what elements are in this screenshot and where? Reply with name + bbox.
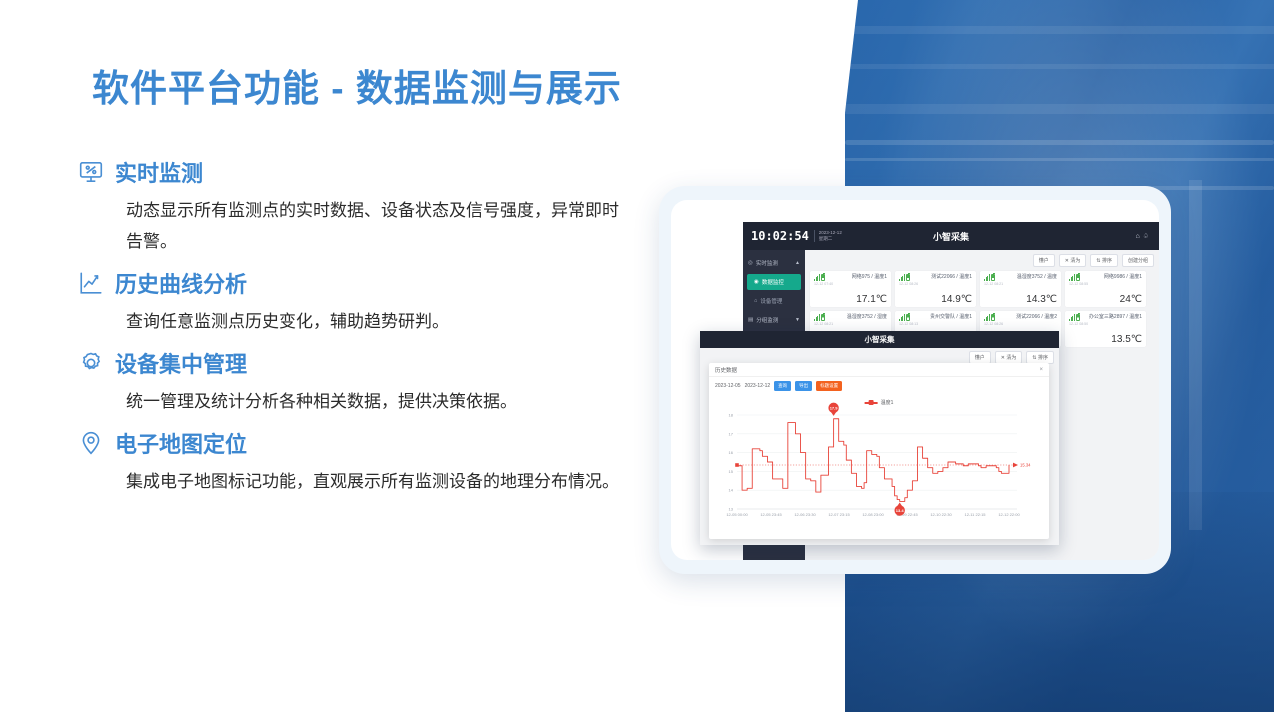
- feature-list: 实时监测 动态显示所有监测点的实时数据、设备状态及信号强度，异常即时告警。 历史…: [78, 155, 638, 506]
- card-status-icons: [1069, 274, 1080, 281]
- card-title: 温湿度3752 / 温度: [1017, 274, 1057, 281]
- signal-icon: [899, 274, 905, 281]
- sidebar-group-realtime[interactable]: ◎ 实时监测 ▲: [743, 255, 805, 271]
- card-title: 网络9986 / 温度1: [1104, 274, 1142, 281]
- toolbar-button-clear[interactable]: ✕ 清为: [1059, 254, 1087, 267]
- sort-icon: ⇅: [1032, 355, 1036, 361]
- front-toolbar-button-label: 排序: [1038, 355, 1048, 361]
- feature-item: 历史曲线分析 查询任意监测点历史变化，辅助趋势研判。: [78, 266, 638, 337]
- sidebar-group-label: 实时监测: [756, 259, 778, 267]
- signal-icon: [1069, 314, 1075, 321]
- card-value: 14.9℃: [941, 294, 972, 305]
- card-title: 办公室三路2897 / 温度1: [1089, 314, 1142, 321]
- clock-small-icon: ◎: [748, 260, 753, 266]
- map-pin-icon: [78, 430, 104, 456]
- card-title: 测试22066 / 温度2: [1016, 314, 1057, 321]
- history-chart: 温度1 18171615141312-05 00:0012-05 23:4512…: [709, 393, 1049, 531]
- card-value: 14.3℃: [1026, 294, 1057, 305]
- svg-text:17.9: 17.9: [830, 405, 839, 410]
- close-icon[interactable]: ×: [1039, 367, 1043, 373]
- card-status-icons: [814, 274, 825, 281]
- feature-item: 电子地图定位 集成电子地图标记功能，直观展示所有监测设备的地理分布情况。: [78, 426, 638, 497]
- dialog-title: 历史数据: [715, 366, 737, 374]
- app-title: 小智采集: [743, 230, 1159, 243]
- query-button[interactable]: 查询: [774, 381, 791, 391]
- toolbar-button-create-group[interactable]: 创建分组: [1122, 254, 1154, 267]
- feature-item: 设备集中管理 统一管理及统计分析各种相关数据，提供决策依据。: [78, 346, 638, 417]
- gear-icon: [78, 350, 104, 376]
- feature-description: 集成电子地图标记功能，直观展示所有监测设备的地理分布情况。: [126, 466, 626, 497]
- card-value: 24℃: [1120, 294, 1142, 305]
- close-icon: ✕: [1065, 258, 1069, 264]
- card-value: 17.1℃: [856, 294, 887, 305]
- card-title: 贵州交警队 / 温度1: [930, 314, 972, 321]
- card-top: 温湿度3752 / 湿度: [814, 314, 887, 321]
- device-icon: ⌂: [754, 298, 757, 304]
- card-top: 贵州交警队 / 温度1: [899, 314, 972, 321]
- signal-icon: [899, 314, 905, 321]
- card-top: 网络975 / 温度1: [814, 274, 887, 281]
- card-status-icons: [899, 314, 910, 321]
- monitor-card[interactable]: 网络975 / 温度1 12-12 07:40 17.1℃: [810, 271, 891, 307]
- date-to-input[interactable]: 2023-12-12: [745, 383, 771, 389]
- card-title: 温湿度3752 / 湿度: [847, 314, 887, 321]
- svg-text:18: 18: [729, 413, 734, 418]
- battery-icon: [1076, 314, 1080, 321]
- feature-header: 设备集中管理: [78, 346, 638, 380]
- tablet-device: 10:02:54 2023-12-12 星期二 小智采集 ⌂♤ ◎ 实时监测 ▲: [659, 186, 1171, 574]
- feature-description: 统一管理及统计分析各种相关数据，提供决策依据。: [126, 386, 626, 417]
- home-icon[interactable]: ⌂: [1135, 233, 1142, 240]
- topbar-icons[interactable]: ⌂♤: [1135, 232, 1152, 240]
- card-status-icons: [984, 274, 995, 281]
- card-timestamp: 12-12 08:55: [1069, 282, 1142, 286]
- export-button[interactable]: 导出: [795, 381, 812, 391]
- title-settings-button[interactable]: 标题设置: [816, 381, 842, 391]
- svg-text:14: 14: [729, 488, 734, 493]
- card-title: 测试22066 / 温度1: [931, 274, 972, 281]
- toolbar-button-sort[interactable]: ⇅ 排序: [1090, 254, 1118, 267]
- monitor-card[interactable]: 网络9986 / 温度1 12-12 08:55 24℃: [1065, 271, 1146, 307]
- sidebar-group2-label: 分组监测: [756, 316, 778, 324]
- front-app-title: 小智采集: [700, 331, 1059, 348]
- content-toolbar: 懂户 ✕ 清为 ⇅ 排序 创建分组: [810, 254, 1154, 267]
- front-toolbar-button-label: 清为: [1006, 355, 1016, 361]
- bell-icon[interactable]: ♤: [1143, 233, 1152, 240]
- toolbar-button-label: 排序: [1102, 258, 1112, 264]
- card-top: 网络9986 / 温度1: [1069, 274, 1142, 281]
- date-from-input[interactable]: 2023-12-05: [715, 383, 741, 389]
- battery-icon: [821, 274, 825, 281]
- card-status-icons: [1069, 314, 1080, 321]
- svg-text:12-05 23:45: 12-05 23:45: [760, 512, 782, 517]
- card-timestamp: 12-12 08:26: [899, 282, 972, 286]
- monitor-icon: ◉: [754, 279, 759, 285]
- battery-icon: [906, 314, 910, 321]
- sidebar-item-device-manage[interactable]: ⌂ 设备管理: [747, 293, 801, 309]
- chevron-up-icon: ▲: [795, 260, 800, 266]
- feature-title: 历史曲线分析: [115, 267, 247, 299]
- monitor-percent-icon: [78, 159, 104, 185]
- card-timestamp: 12-12 08:13: [899, 322, 972, 326]
- feature-title: 设备集中管理: [115, 347, 247, 379]
- card-timestamp: 12-12 08:21: [984, 282, 1057, 286]
- tablet-screen: 10:02:54 2023-12-12 星期二 小智采集 ⌂♤ ◎ 实时监测 ▲: [671, 200, 1159, 560]
- line-chart-icon: [78, 270, 104, 296]
- history-data-dialog: 历史数据 × 2023-12-05 2023-12-12 查询 导出 标题设置 …: [709, 363, 1049, 539]
- card-status-icons: [899, 274, 910, 281]
- svg-text:12-08 23:00: 12-08 23:00: [862, 512, 884, 517]
- sort-icon: ⇅: [1096, 258, 1100, 264]
- card-title: 网络975 / 温度1: [852, 274, 887, 281]
- svg-text:12-06 23:30: 12-06 23:30: [794, 512, 816, 517]
- battery-icon: [906, 274, 910, 281]
- feature-header: 历史曲线分析: [78, 266, 638, 300]
- toolbar-button-label: 清为: [1070, 258, 1080, 264]
- chart-canvas: 18171615141312-05 00:0012-05 23:4512-06 …: [709, 393, 1049, 531]
- feature-description: 查询任意监测点历史变化，辅助趋势研判。: [126, 306, 626, 337]
- front-app-window: 小智采集 懂户 ✕ 清为 ⇅ 排序 历史数据 × 2023-12-05: [700, 331, 1059, 545]
- signal-icon: [984, 314, 990, 321]
- svg-text:13: 13: [729, 507, 734, 512]
- close-icon: ✕: [1001, 355, 1005, 361]
- card-value: 13.5℃: [1111, 334, 1142, 345]
- feature-header: 电子地图定位: [78, 426, 638, 460]
- battery-icon: [1076, 274, 1080, 281]
- monitor-card[interactable]: 温湿度3752 / 温度 12-12 08:21 14.3℃: [980, 271, 1061, 307]
- svg-text:17: 17: [729, 431, 734, 436]
- signal-icon: [984, 274, 990, 281]
- sidebar-group-grouped[interactable]: ▤ 分组监测 ▼: [743, 312, 805, 328]
- monitor-card[interactable]: 测试22066 / 温度1 12-12 08:26 14.9℃: [895, 271, 976, 307]
- card-timestamp: 12-12 07:40: [814, 282, 887, 286]
- card-top: 测试22066 / 温度1: [899, 274, 972, 281]
- card-top: 温湿度3752 / 温度: [984, 274, 1057, 281]
- dialog-controls: 2023-12-05 2023-12-12 查询 导出 标题设置: [709, 377, 1049, 393]
- card-timestamp: 12-12 08:50: [1069, 322, 1142, 326]
- svg-text:12-12 22:00: 12-12 22:00: [998, 512, 1020, 517]
- sidebar-item-label: 设备管理: [760, 297, 782, 305]
- svg-text:12-07 23:15: 12-07 23:15: [828, 512, 850, 517]
- chevron-down-icon: ▼: [795, 317, 800, 323]
- battery-icon: [821, 314, 825, 321]
- svg-text:13.4: 13.4: [896, 508, 905, 513]
- svg-text:12-10 22:30: 12-10 22:30: [930, 512, 952, 517]
- signal-icon: [1069, 274, 1075, 281]
- feature-header: 实时监测: [78, 155, 638, 189]
- svg-text:15.34: 15.34: [1020, 463, 1031, 468]
- card-top: 办公室三路2897 / 温度1: [1069, 314, 1142, 321]
- svg-text:15: 15: [729, 469, 734, 474]
- battery-icon: [991, 314, 995, 321]
- svg-text:16: 16: [729, 450, 734, 455]
- svg-text:12-11 22:15: 12-11 22:15: [964, 512, 986, 517]
- feature-item: 实时监测 动态显示所有监测点的实时数据、设备状态及信号强度，异常即时告警。: [78, 155, 638, 257]
- signal-icon: [814, 314, 820, 321]
- battery-icon: [991, 274, 995, 281]
- card-timestamp: 12-12 08:26: [984, 322, 1057, 326]
- card-status-icons: [984, 314, 995, 321]
- feature-title: 实时监测: [115, 156, 203, 188]
- page-title: 软件平台功能 - 数据监测与展示: [92, 58, 622, 112]
- dialog-header: 历史数据 ×: [709, 363, 1049, 377]
- monitor-card[interactable]: 办公室三路2897 / 温度1 12-12 08:50 13.5℃: [1065, 311, 1146, 347]
- card-status-icons: [814, 314, 825, 321]
- grid-icon: ▤: [748, 317, 753, 323]
- sidebar-item-data-monitor[interactable]: ◉ 数据监控: [747, 274, 801, 290]
- signal-icon: [814, 274, 820, 281]
- svg-text:12-05 00:00: 12-05 00:00: [726, 512, 748, 517]
- toolbar-button-account[interactable]: 懂户: [1033, 254, 1055, 267]
- card-top: 测试22066 / 温度2: [984, 314, 1057, 321]
- app-topbar: 10:02:54 2023-12-12 星期二 小智采集 ⌂♤: [743, 222, 1159, 250]
- feature-title: 电子地图定位: [115, 427, 247, 459]
- card-timestamp: 12-12 08:21: [814, 322, 887, 326]
- feature-description: 动态显示所有监测点的实时数据、设备状态及信号强度，异常即时告警。: [126, 195, 626, 257]
- sidebar-item-label: 数据监控: [762, 278, 784, 286]
